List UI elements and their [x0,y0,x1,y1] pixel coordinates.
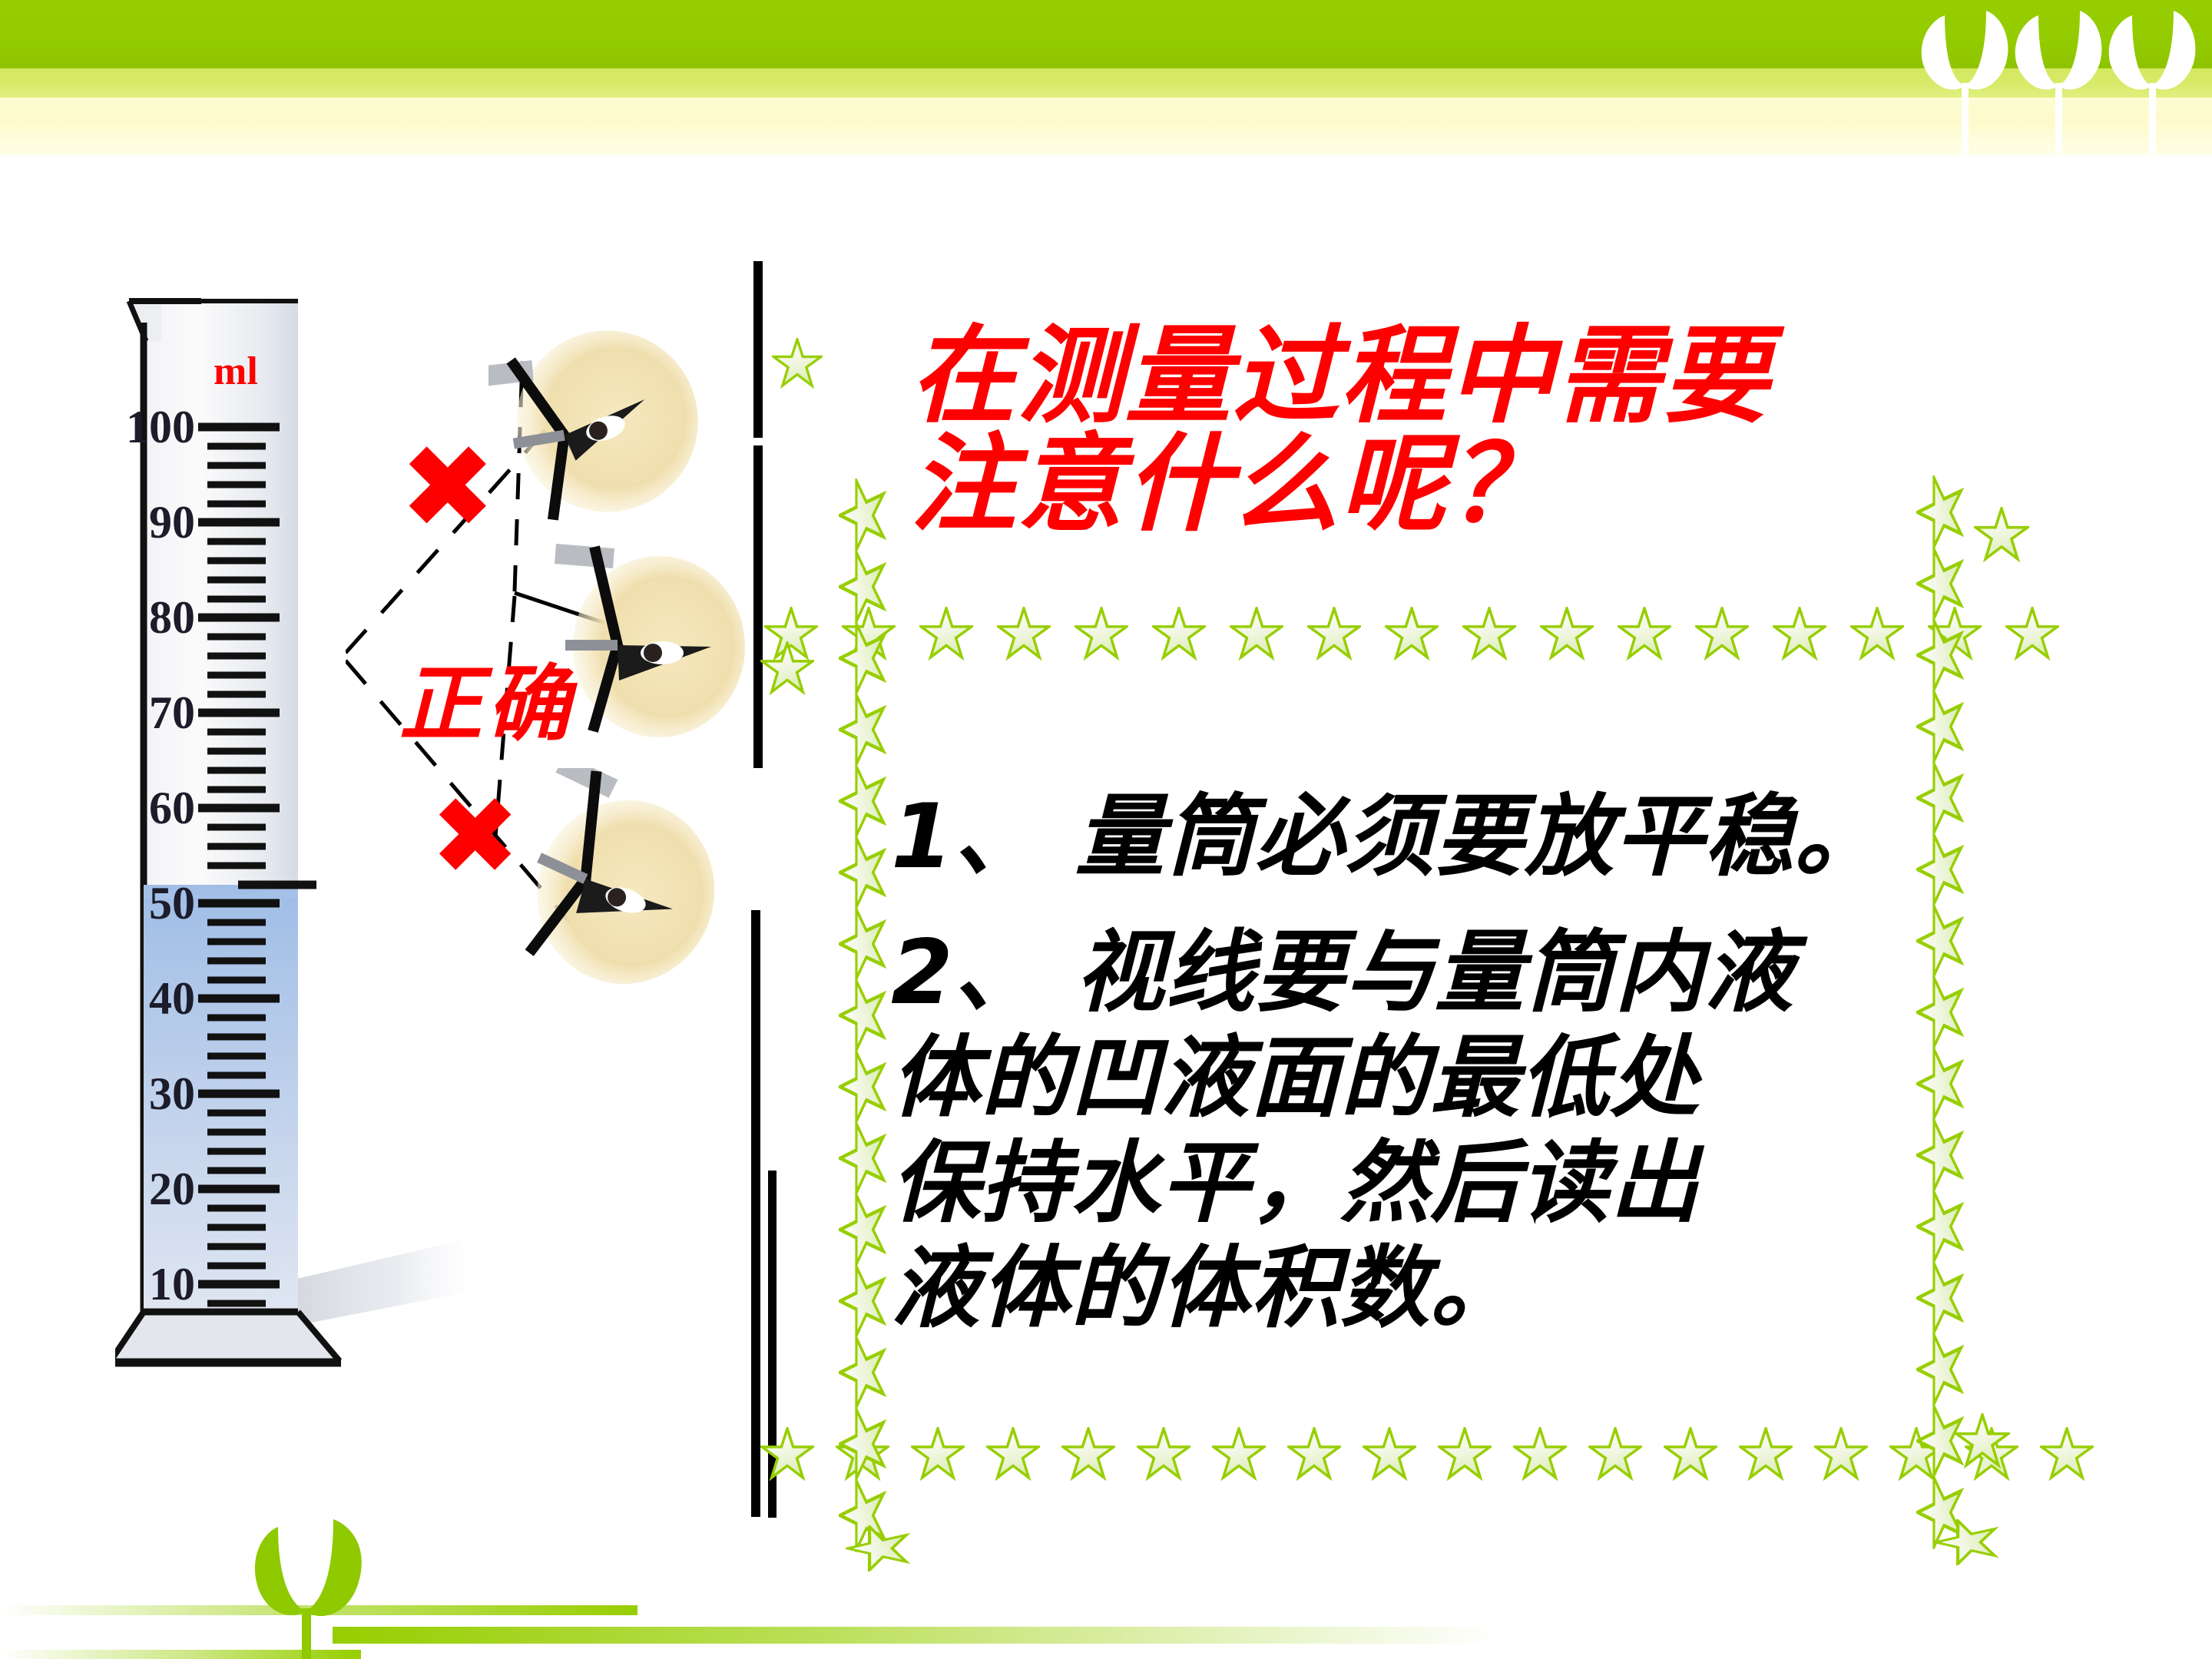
star-icon-top-3 [997,607,1051,661]
star-icon-right-5 [1903,846,1977,893]
body-line-2: 2、 视线要与量筒内液 [891,921,1912,1026]
wrong-mark-bottom: ✖ [430,783,520,891]
star-icon-left-13 [826,1420,899,1468]
divider-bar-4 [768,1171,777,1518]
star-icon-right-4 [1903,774,1977,822]
star-icon-right-9 [1903,1131,1977,1179]
star-icon-bottom-15 [1889,1427,1943,1481]
star-icon-left-6 [826,920,899,968]
footer-decoration [0,1498,2212,1659]
star-icon-bottom-12 [1664,1427,1717,1481]
svg-text:60: 60 [149,783,195,833]
svg-text:40: 40 [149,973,195,1024]
eye-looking-down [488,307,719,538]
header-sprout-group [1897,0,2212,154]
body-line-3: 体的凹液面的最低处 [891,1026,1912,1131]
star-icon-right-8 [1903,1060,1977,1108]
body-line-4: 保持水平，然后读出 [891,1131,1912,1237]
svg-text:50: 50 [149,878,195,929]
body-text: 1、 量筒必须要放平稳。 2、 视线要与量筒内液 体的凹液面的最低处 保持水平，… [891,785,1912,1341]
star-icon-right-3 [1903,703,1977,750]
star-icon-top-12 [1695,607,1749,661]
star-icon-right-11 [1903,1274,1977,1322]
star-icon-top-4 [1075,607,1128,661]
slide-root: ml [0,0,2212,1659]
svg-text:80: 80 [149,592,195,643]
wrong-mark-top: ✖ [399,430,496,545]
svg-text:20: 20 [149,1164,195,1214]
star-icon-left-3 [826,706,899,753]
page-title: 在测量过程中需要 注意什么呢？ [910,323,1901,539]
star-icon-left-12 [826,1349,899,1396]
footer-sprout-icon [253,1498,453,1659]
star-icon-bottom-3 [986,1427,1040,1481]
divider-bar-1 [753,261,763,438]
star-icon-top-11 [1618,607,1671,661]
body-line-5: 液体的体积数。 [891,1237,1912,1342]
divider-bar-2 [753,445,763,768]
star-icon-bottom-13 [1739,1427,1793,1481]
cylinder-unit-label: ml [214,349,258,393]
svg-text:10: 10 [149,1259,195,1310]
star-icon-top-10 [1540,607,1594,661]
star-icon-left-10 [826,1206,899,1253]
star-icon-left-2 [826,634,899,682]
footer-line-2 [333,1627,2212,1644]
star-icon-left-8 [826,1063,899,1111]
cylinder-shadow [280,1240,476,1325]
star-icon-bottom-17 [2040,1427,2094,1481]
star-icon-left-11 [826,1277,899,1325]
star-icon-left-7 [826,992,899,1039]
star-icon-accent-br [1955,1413,2010,1469]
star-icon-top-2 [919,607,973,661]
star-icon-top-13 [1773,607,1826,661]
star-icon-top-16 [2005,607,2059,661]
star-icon-bottom-10 [1513,1427,1567,1481]
star-icon-top-7 [1307,607,1361,661]
star-icon-top-15 [1928,607,1982,661]
star-icon-left-4 [826,777,899,825]
star-icon-top-14 [1850,607,1904,661]
star-icon-right-7 [1903,988,1977,1036]
star-icon-top-6 [1230,607,1283,661]
correct-label: 正确 [399,637,575,757]
star-icon-top-1 [842,607,896,661]
star-icon-top-5 [1152,607,1206,661]
header-band-green [0,0,2212,68]
star-icon-bottom-2 [911,1427,965,1481]
star-icon-bottom-6 [1212,1427,1266,1481]
star-icon-right-0 [1903,488,1977,536]
star-icon-bottom-16 [1965,1427,2018,1481]
star-icon-accent-tr [1974,507,2029,562]
star-icon-bottom-9 [1438,1427,1492,1481]
sprout-icon-1 [1922,11,2008,154]
star-icon-right-10 [1903,1203,1977,1250]
eye-looking-up [507,768,737,1014]
svg-text:90: 90 [149,497,195,548]
sprout-icon-3 [2109,11,2196,154]
star-icon-right-6 [1903,917,1977,965]
body-line-1: 1、 量筒必须要放平稳。 [891,785,1912,890]
star-icon-right-1 [1903,560,1977,608]
header-band-cream [0,98,2212,155]
svg-text:70: 70 [149,687,195,738]
sprout-icon-2 [2015,11,2102,154]
star-icon-bottom-7 [1287,1427,1341,1481]
star-icon-left-5 [826,849,899,896]
svg-text:30: 30 [149,1068,195,1119]
star-icon-bottom-4 [1061,1427,1115,1481]
star-icon-right-12 [1903,1346,1977,1393]
star-icon-bottom-8 [1363,1427,1416,1481]
star-icon-bottom-11 [1588,1427,1642,1481]
star-icon-left-9 [826,1134,899,1182]
star-icon-left-1 [826,563,899,611]
page-title-line-1: 在测量过程中需要 [910,323,1901,431]
star-icon-top-8 [1385,607,1439,661]
star-icon-bottom-1 [836,1427,889,1481]
star-icon-left-0 [826,492,899,539]
page-title-line-2: 注意什么呢？ [910,431,1901,539]
star-icon-top-9 [1462,607,1516,661]
svg-text:100: 100 [126,402,195,452]
star-icon-bottom-5 [1137,1427,1190,1481]
star-icon-right-13 [1903,1417,1977,1465]
divider-bar-3 [751,910,760,1517]
star-icon-bottom-14 [1814,1427,1868,1481]
star-icon-right-2 [1903,631,1977,679]
header-band-lime [0,68,2212,98]
